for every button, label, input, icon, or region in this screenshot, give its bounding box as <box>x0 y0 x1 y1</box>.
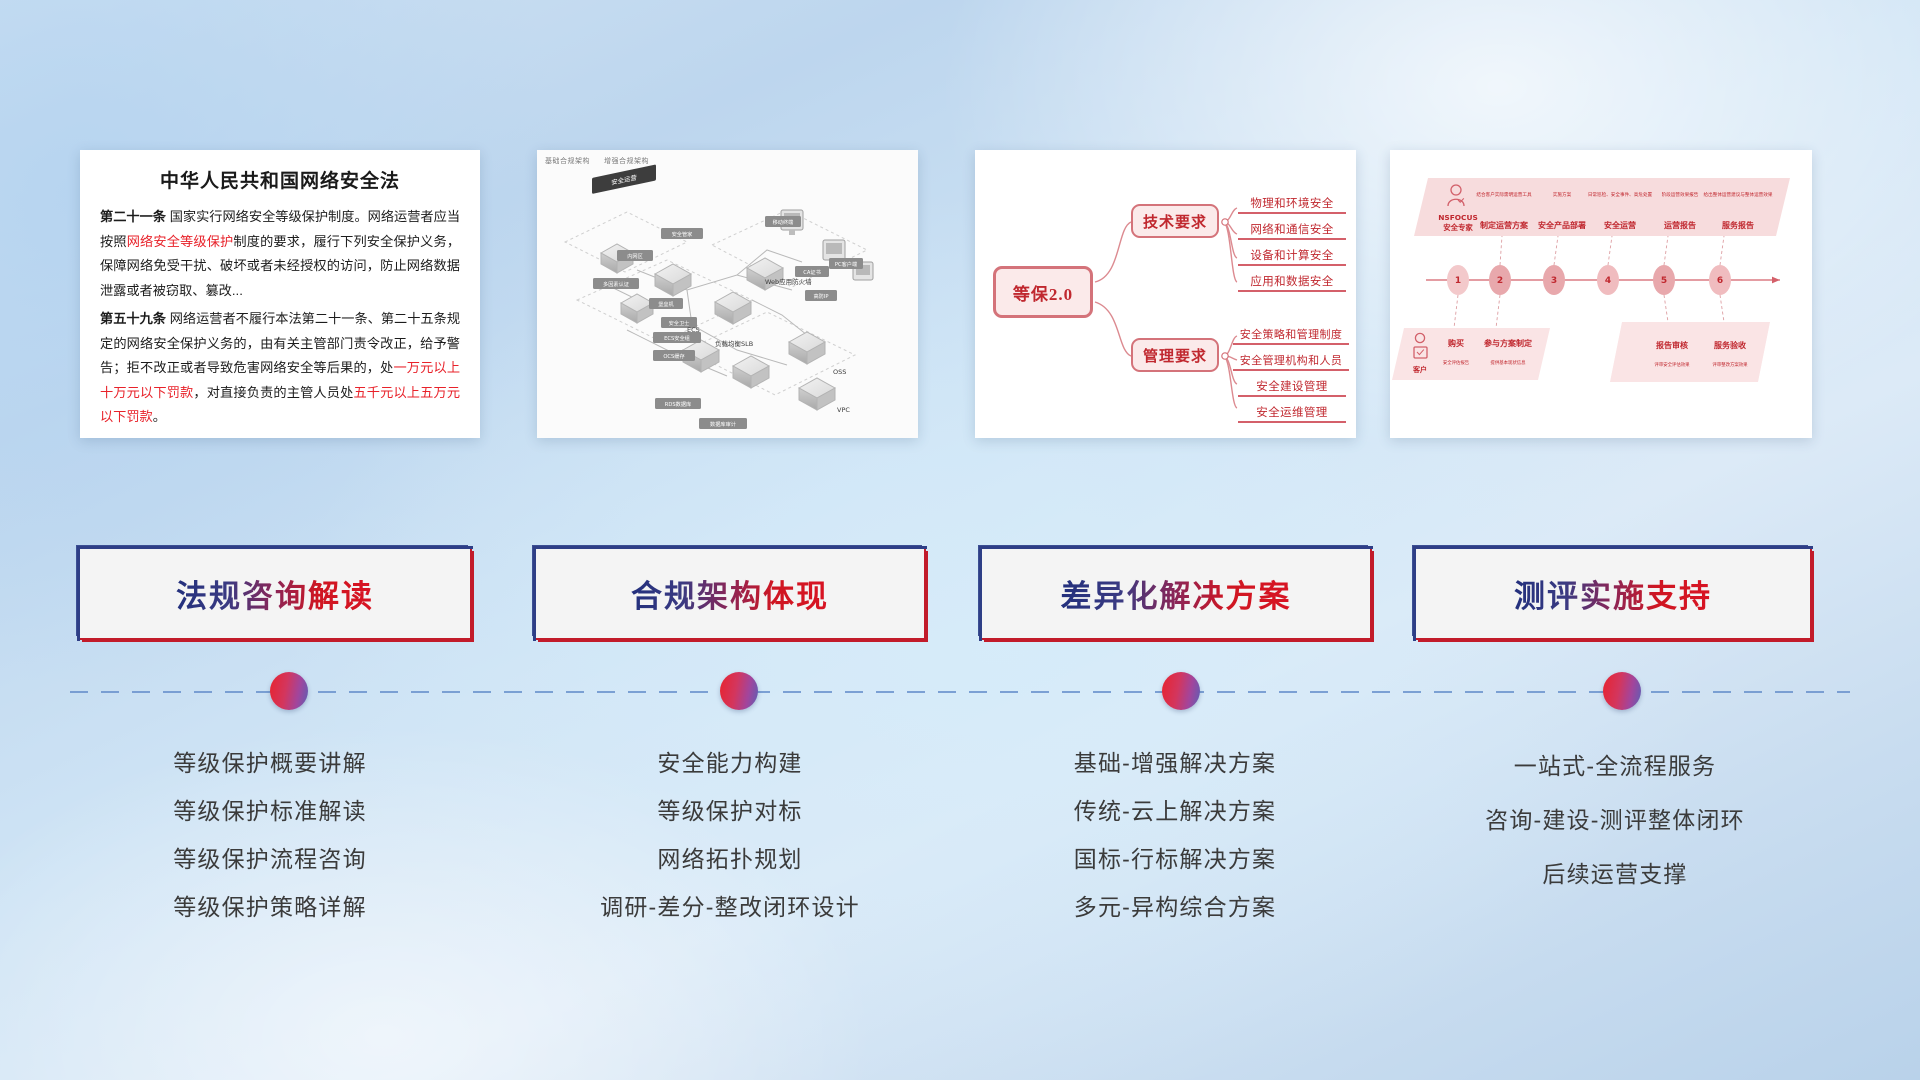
svg-text:评审安全评估效果: 评审安全评估效果 <box>1654 361 1690 368</box>
nsfocus-process-svg: 1 2 3 4 5 6 <box>1390 150 1812 438</box>
list-item: 等级保护概要讲解 <box>70 740 470 788</box>
section-title-3: 差异化解决方案 <box>1061 571 1292 616</box>
section-title-4: 测评实施支持 <box>1514 571 1712 616</box>
svg-text:参与方案制定: 参与方案制定 <box>1483 338 1532 348</box>
mindmap-branch-technical: 技术要求 <box>1131 204 1219 238</box>
svg-text:运营报告: 运营报告 <box>1664 220 1696 230</box>
card-mindmap-dengbao: 等保2.0 技术要求 管理要求 物理和环境安全 网络和通信安全 设备和计算安全 … <box>975 150 1356 438</box>
timeline-dot-1 <box>270 672 308 710</box>
article-21-label: 第二十一条 <box>100 209 166 224</box>
svg-text:报告审核: 报告审核 <box>1656 340 1688 350</box>
svg-text:结合客户实际需明运营工具: 结合客户实际需明运营工具 <box>1476 191 1532 198</box>
list-item: 国标-行标解决方案 <box>975 836 1375 884</box>
nsfocus-process-diagram: 1 2 3 4 5 6 <box>1390 150 1812 438</box>
detail-column-3: 基础-增强解决方案 传统-云上解决方案 国标-行标解决方案 多元-异构综合方案 <box>975 740 1375 932</box>
card-cybersecurity-law: 中华人民共和国网络安全法 第二十一条 国家实行网络安全等级保护制度。网络运营者应… <box>80 150 480 438</box>
mindmap-root-node: 等保2.0 <box>993 266 1093 318</box>
timeline <box>70 690 1850 694</box>
svg-text:给出整体运营建议与整体运营效果: 给出整体运营建议与整体运营效果 <box>1704 191 1773 198</box>
svg-text:客户: 客户 <box>1412 365 1427 374</box>
svg-text:OCS缓存: OCS缓存 <box>663 352 684 360</box>
svg-text:PC客户端: PC客户端 <box>835 260 857 268</box>
section-title-1: 法规咨询解读 <box>176 571 374 616</box>
card-nsfocus-process: 1 2 3 4 5 6 <box>1390 150 1812 438</box>
card-compliance-architecture: 基础合规架构增强合规架构 <box>537 150 918 438</box>
article-59-part3: 。 <box>153 409 166 424</box>
list-item: 咨询-建设-测评整体闭环 <box>1400 794 1830 848</box>
article-59-label: 第五十九条 <box>100 311 166 326</box>
list-item: 传统-云上解决方案 <box>975 788 1375 836</box>
list-item: 等级保护标准解读 <box>70 788 470 836</box>
svg-text:ECS: ECS <box>687 326 700 334</box>
mindmap-leaf-mgmt-1: 安全策略和管理制度 <box>1233 326 1349 345</box>
mindmap-leaf-mgmt-2: 安全管理机构和人员 <box>1233 352 1349 371</box>
svg-text:3: 3 <box>1551 276 1557 286</box>
svg-text:CA证书: CA证书 <box>803 268 821 276</box>
svg-text:6: 6 <box>1717 276 1723 286</box>
svg-text:高防IP: 高防IP <box>813 292 828 300</box>
svg-text:内网区: 内网区 <box>627 252 643 260</box>
reference-card-row: 中华人民共和国网络安全法 第二十一条 国家实行网络安全等级保护制度。网络运营者应… <box>0 150 1920 440</box>
svg-text:Web应用防火墙: Web应用防火墙 <box>765 277 812 286</box>
law-article-59: 第五十九条 网络运营者不履行本法第二十一条、第二十五条规定的网络安全保护义务的，… <box>100 307 460 430</box>
article-59-part2: ，对直接负责的主管人员处 <box>193 385 353 400</box>
svg-text:安全管家: 安全管家 <box>672 230 693 238</box>
svg-text:4: 4 <box>1605 276 1611 286</box>
list-item: 安全能力构建 <box>510 740 950 788</box>
svg-text:多因素认证: 多因素认证 <box>603 280 629 288</box>
list-item: 多元-异构综合方案 <box>975 884 1375 932</box>
article-21-highlight: 网络安全等级保护 <box>127 234 234 249</box>
timeline-dot-4 <box>1603 672 1641 710</box>
list-item: 一站式-全流程服务 <box>1400 740 1830 794</box>
svg-text:ECS安全组: ECS安全组 <box>664 334 690 342</box>
detail-column-1: 等级保护概要讲解 等级保护标准解读 等级保护流程咨询 等级保护策略详解 <box>70 740 470 932</box>
mindmap-diagram: 等保2.0 技术要求 管理要求 物理和环境安全 网络和通信安全 设备和计算安全 … <box>975 150 1356 438</box>
law-title: 中华人民共和国网络安全法 <box>100 166 460 193</box>
section-title-box-3[interactable]: 差异化解决方案 <box>980 547 1372 640</box>
svg-text:数据库审计: 数据库审计 <box>710 420 736 428</box>
svg-text:移动终端: 移动终端 <box>773 218 794 226</box>
list-item: 调研-差分-整改闭环设计 <box>510 884 950 932</box>
svg-text:安全专家: 安全专家 <box>1443 223 1473 232</box>
svg-text:日常巡检、安全事件、高危处置: 日常巡检、安全事件、高危处置 <box>1588 191 1653 198</box>
svg-text:提供基本现状信息: 提供基本现状信息 <box>1490 359 1526 366</box>
architecture-svg: 安全运营 安全管家 内网区 多因素认证 堡垒机 OCS缓存 RDS数据库 ECS… <box>537 150 918 438</box>
mindmap-leaf-mgmt-4: 安全运维管理 <box>1238 404 1346 423</box>
svg-text:实施方案: 实施方案 <box>1553 191 1572 198</box>
section-title-box-1[interactable]: 法规咨询解读 <box>78 547 472 640</box>
list-item: 后续运营支撑 <box>1400 848 1830 902</box>
detail-column-2: 安全能力构建 等级保护对标 网络拓扑规划 调研-差分-整改闭环设计 <box>510 740 950 932</box>
svg-text:服务验收: 服务验收 <box>1714 340 1746 350</box>
list-item: 基础-增强解决方案 <box>975 740 1375 788</box>
svg-text:安全运营: 安全运营 <box>1604 220 1636 230</box>
svg-text:5: 5 <box>1661 276 1667 286</box>
mindmap-leaf-tech-2: 网络和通信安全 <box>1238 221 1346 240</box>
mindmap-leaf-tech-4: 应用和数据安全 <box>1238 273 1346 292</box>
svg-text:负载均衡SLB: 负载均衡SLB <box>715 339 753 348</box>
timeline-dashed-line <box>70 691 1850 693</box>
mindmap-leaf-mgmt-3: 安全建设管理 <box>1238 378 1346 397</box>
section-title-2: 合规架构体现 <box>631 571 829 616</box>
list-item: 等级保护策略详解 <box>70 884 470 932</box>
mindmap-leaf-tech-1: 物理和环境安全 <box>1238 195 1346 214</box>
list-item: 等级保护对标 <box>510 788 950 836</box>
svg-text:2: 2 <box>1497 276 1503 286</box>
timeline-dot-2 <box>720 672 758 710</box>
detail-column-4: 一站式-全流程服务 咨询-建设-测评整体闭环 后续运营支撑 <box>1400 740 1830 902</box>
svg-text:VPC: VPC <box>837 406 850 414</box>
svg-text:制定运营方案: 制定运营方案 <box>1480 220 1529 230</box>
architecture-diagram: 基础合规架构增强合规架构 <box>537 150 918 438</box>
svg-text:服务报告: 服务报告 <box>1722 220 1754 230</box>
svg-text:RDS数据库: RDS数据库 <box>665 400 691 408</box>
section-title-box-2[interactable]: 合规架构体现 <box>534 547 926 640</box>
svg-text:1: 1 <box>1455 276 1461 286</box>
law-article-21: 第二十一条 国家实行网络安全等级保护制度。网络运营者应当按照网络安全等级保护制度… <box>100 205 460 303</box>
law-text-body: 中华人民共和国网络安全法 第二十一条 国家实行网络安全等级保护制度。网络运营者应… <box>80 150 480 438</box>
section-title-box-4[interactable]: 测评实施支持 <box>1414 547 1812 640</box>
list-item: 网络拓扑规划 <box>510 836 950 884</box>
svg-text:安全评估报告: 安全评估报告 <box>1443 359 1470 366</box>
mindmap-leaf-tech-3: 设备和计算安全 <box>1238 247 1346 266</box>
list-item: 等级保护流程咨询 <box>70 836 470 884</box>
svg-text:安全产品部署: 安全产品部署 <box>1538 220 1586 230</box>
svg-text:NSFOCUS: NSFOCUS <box>1438 213 1478 222</box>
svg-text:OSS: OSS <box>833 368 846 376</box>
svg-text:评审整改方案效果: 评审整改方案效果 <box>1712 361 1748 368</box>
svg-text:阶段运营效果报告: 阶段运营效果报告 <box>1662 191 1699 198</box>
svg-text:购买: 购买 <box>1448 338 1464 348</box>
svg-text:堡垒机: 堡垒机 <box>658 300 674 308</box>
mindmap-branch-management: 管理要求 <box>1131 338 1219 372</box>
timeline-dot-3 <box>1162 672 1200 710</box>
